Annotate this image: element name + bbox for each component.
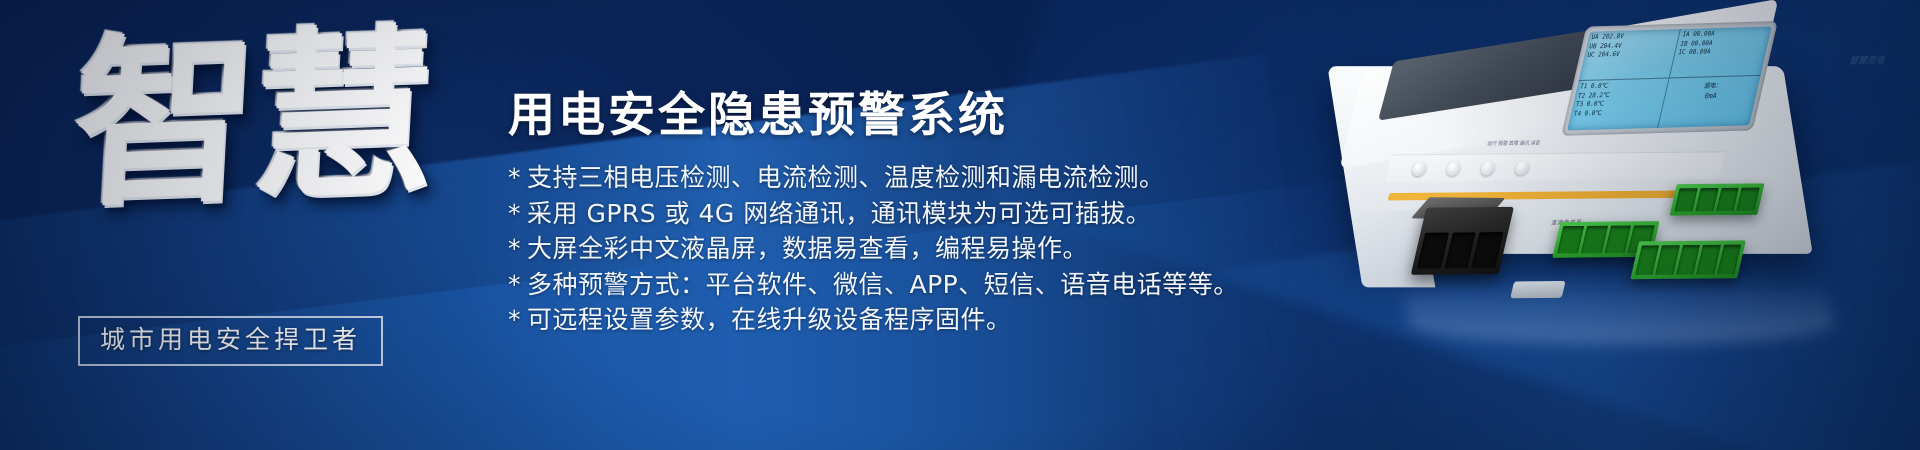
brand-calligraphy: 智慧 bbox=[64, 22, 410, 313]
page-title: 用电安全隐患预警系统 bbox=[508, 88, 1338, 143]
terminal-slot bbox=[1444, 232, 1476, 268]
lcd-temp-4: T4 0.0℃ bbox=[1573, 108, 1659, 119]
lcd-temperature-cell: T1 0.0℃ T2 28.2℃ T3 0.0℃ T4 0.0℃ bbox=[1567, 78, 1669, 130]
list-item-label: 可远程设置参数，在线升级设备程序固件。 bbox=[527, 305, 1012, 334]
device-lcd-screen: UA 202.8V UB 204.4V UC 204.6V IA 00.00A … bbox=[1567, 26, 1772, 130]
lcd-current-cell: IA 00.00A IB 00.00A IC 00.00A bbox=[1670, 26, 1772, 78]
device-button-down[interactable] bbox=[1480, 160, 1497, 175]
bullet-marker-icon: * bbox=[508, 234, 521, 263]
terminal-block-black bbox=[1411, 207, 1514, 275]
bullet-marker-icon: * bbox=[508, 163, 521, 192]
device-brand-mark: 智慧用电 bbox=[1848, 53, 1885, 67]
terminal-slot bbox=[1604, 226, 1631, 254]
promo-banner: 智慧 城市用电安全捍卫者 用电安全隐患预警系统 *支持三相电压检测、电流检测、温… bbox=[0, 0, 1920, 450]
device-led-labels: 运行 报警 故障 通讯 消音 bbox=[1486, 139, 1541, 147]
device-photo: UA 202.8V UB 204.4V UC 204.6V IA 00.00A … bbox=[1328, 0, 1920, 394]
device-din-clip bbox=[1510, 281, 1565, 298]
terminal-slot bbox=[1674, 188, 1697, 211]
list-item: *多种预警方式：平台软件、微信、APP、短信、语音电话等等。 bbox=[508, 267, 1338, 303]
list-item-label: 大屏全彩中文液晶屏，数据易查看，编程易操作。 bbox=[527, 234, 1088, 263]
list-item-label: 多种预警方式：平台软件、微信、APP、短信、语音电话等等。 bbox=[527, 270, 1239, 299]
terminal-slot bbox=[1716, 188, 1739, 211]
device-reflection bbox=[1401, 276, 1837, 345]
terminal-slot bbox=[1695, 188, 1718, 211]
lcd-voltage-cell: UA 202.8V UB 204.4V UC 204.6V bbox=[1579, 29, 1681, 81]
brand-block: 智慧 城市用电安全捍卫者 bbox=[0, 0, 420, 450]
device-lcd-frame: UA 202.8V UB 204.4V UC 204.6V IA 00.00A … bbox=[1561, 21, 1778, 136]
device-button-up[interactable] bbox=[1445, 161, 1462, 176]
terminal-slot bbox=[1717, 245, 1741, 275]
lcd-leakage-cell: 漏电： 0mA bbox=[1658, 76, 1760, 128]
terminal-slot bbox=[1557, 226, 1584, 254]
copy-block: 用电安全隐患预警系统 *支持三相电压检测、电流检测、温度检测和漏电流检测。 *采… bbox=[508, 88, 1338, 338]
terminal-block-green-lower bbox=[1630, 240, 1746, 279]
list-item: *大屏全彩中文液晶屏，数据易查看，编程易操作。 bbox=[508, 231, 1338, 267]
terminal-slot bbox=[1737, 188, 1760, 211]
list-item: *采用 GPRS 或 4G 网络通讯，通讯模块为可选可插拔。 bbox=[508, 196, 1338, 232]
tagline-box: 城市用电安全捍卫者 bbox=[78, 316, 383, 366]
feature-list: *支持三相电压检测、电流检测、温度检测和漏电流检测。 *采用 GPRS 或 4G… bbox=[508, 160, 1338, 338]
terminal-slot bbox=[1581, 226, 1608, 254]
terminal-slot bbox=[1472, 232, 1504, 268]
bullet-marker-icon: * bbox=[508, 199, 521, 228]
list-item-label: 采用 GPRS 或 4G 网络通讯，通讯模块为可选可插拔。 bbox=[527, 199, 1151, 228]
lcd-voltage-c: UC 204.6V bbox=[1586, 49, 1672, 60]
bullet-marker-icon: * bbox=[508, 305, 521, 334]
list-item: *支持三相电压检测、电流检测、温度检测和漏电流检测。 bbox=[508, 160, 1338, 196]
list-item-label: 支持三相电压检测、电流检测、温度检测和漏电流检测。 bbox=[527, 163, 1165, 192]
terminal-slot bbox=[1417, 233, 1449, 269]
list-item: *可远程设置参数，在线升级设备程序固件。 bbox=[508, 302, 1338, 338]
bullet-marker-icon: * bbox=[508, 270, 521, 299]
device-button-ok[interactable] bbox=[1514, 160, 1531, 175]
device-button-set[interactable] bbox=[1411, 161, 1428, 176]
lcd-leakage-value: 0mA bbox=[1667, 90, 1755, 103]
terminal-block-green-upper bbox=[1670, 183, 1765, 215]
device-button-row bbox=[1385, 151, 1725, 181]
lcd-current-c: IC 00.00A bbox=[1677, 47, 1764, 58]
